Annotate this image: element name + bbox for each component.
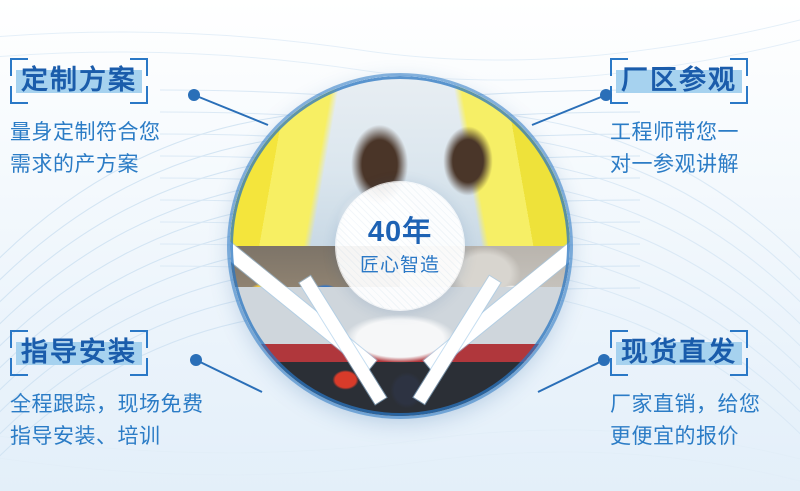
feature-description: 厂家直销，给您 更便宜的报价 [610,389,800,453]
feature-title-box: 厂区参观 [610,58,748,104]
feature-title: 定制方案 [21,66,137,96]
feature-title: 现货直发 [621,338,737,368]
feature-description: 全程跟踪，现场免费 指导安装、培训 [10,389,240,453]
feature-description-line: 更便宜的报价 [610,421,800,453]
feature-description-line: 工程师带您一 [610,117,800,149]
feature-description-line: 对一参观讲解 [610,149,800,181]
feature-description-line: 全程跟踪，现场免费 [10,389,240,421]
feature-description-line: 需求的产方案 [10,149,240,181]
feature-description-line: 厂家直销，给您 [610,389,800,421]
feature-in-stock-direct-shipping[interactable]: 现货直发 厂家直销，给您 更便宜的报价 [610,330,800,453]
feature-title: 厂区参观 [621,66,737,96]
promo-banner: 40年 匠心智造 定制方案 量身定制符合您 需求的产方案 [0,0,800,491]
feature-description-line: 量身定制符合您 [10,117,240,149]
feature-title-box: 现货直发 [610,330,748,376]
badge-headline: 40年 [368,218,432,247]
feature-custom-solution[interactable]: 定制方案 量身定制符合您 需求的产方案 [10,58,240,181]
feature-description: 量身定制符合您 需求的产方案 [10,117,240,181]
center-photo-collage: 40年 匠心智造 [222,0,578,491]
feature-installation-guidance[interactable]: 指导安装 全程跟踪，现场免费 指导安装、培训 [10,330,240,453]
feature-factory-tour[interactable]: 厂区参观 工程师带您一 对一参观讲解 [610,58,800,181]
feature-description-line: 指导安装、培训 [10,421,240,453]
feature-description: 工程师带您一 对一参观讲解 [610,117,800,181]
center-badge: 40年 匠心智造 [336,182,464,310]
badge-subline: 匠心智造 [360,256,440,275]
feature-title-box: 定制方案 [10,58,148,104]
feature-title: 指导安装 [21,338,137,368]
feature-title-box: 指导安装 [10,330,148,376]
